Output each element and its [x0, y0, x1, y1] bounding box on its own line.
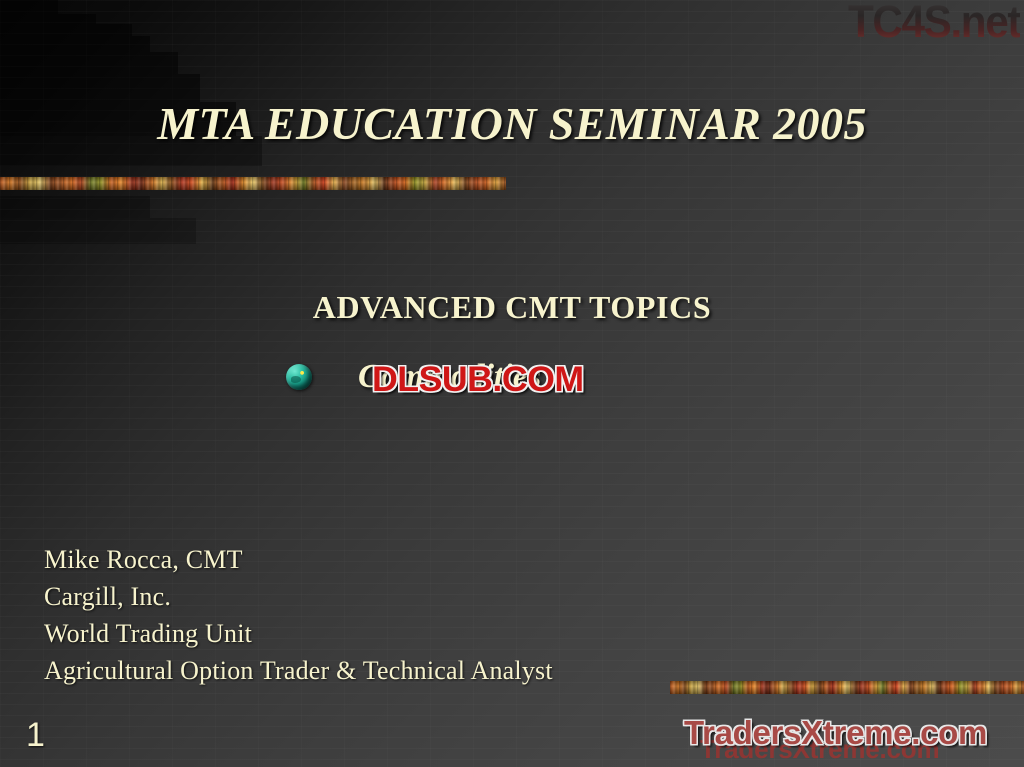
presentation-slide: MTA EDUCATION SEMINAR 2005 ADVANCED CMT … — [0, 0, 1024, 767]
decorative-bar-bottom — [670, 681, 1024, 694]
globe-bullet-icon — [286, 364, 312, 390]
author-block: Mike Rocca, CMT Cargill, Inc. World Trad… — [44, 541, 553, 689]
slide-subtitle: ADVANCED CMT TOPICS — [0, 289, 1024, 326]
author-department: World Trading Unit — [44, 615, 553, 652]
page-title: MTA EDUCATION SEMINAR 2005 — [0, 97, 1024, 150]
watermark-tc4s: TC4S.net — [848, 0, 1020, 48]
author-role: Agricultural Option Trader & Technical A… — [44, 652, 553, 689]
author-company: Cargill, Inc. — [44, 578, 553, 615]
watermark-dlsub: DLSUB.COM — [372, 360, 584, 400]
slide-number: 1 — [26, 716, 45, 755]
author-name: Mike Rocca, CMT — [44, 541, 553, 578]
watermark-tradersxtreme: TradersXtreme.com — [684, 714, 987, 752]
decorative-bar-top — [0, 177, 506, 190]
